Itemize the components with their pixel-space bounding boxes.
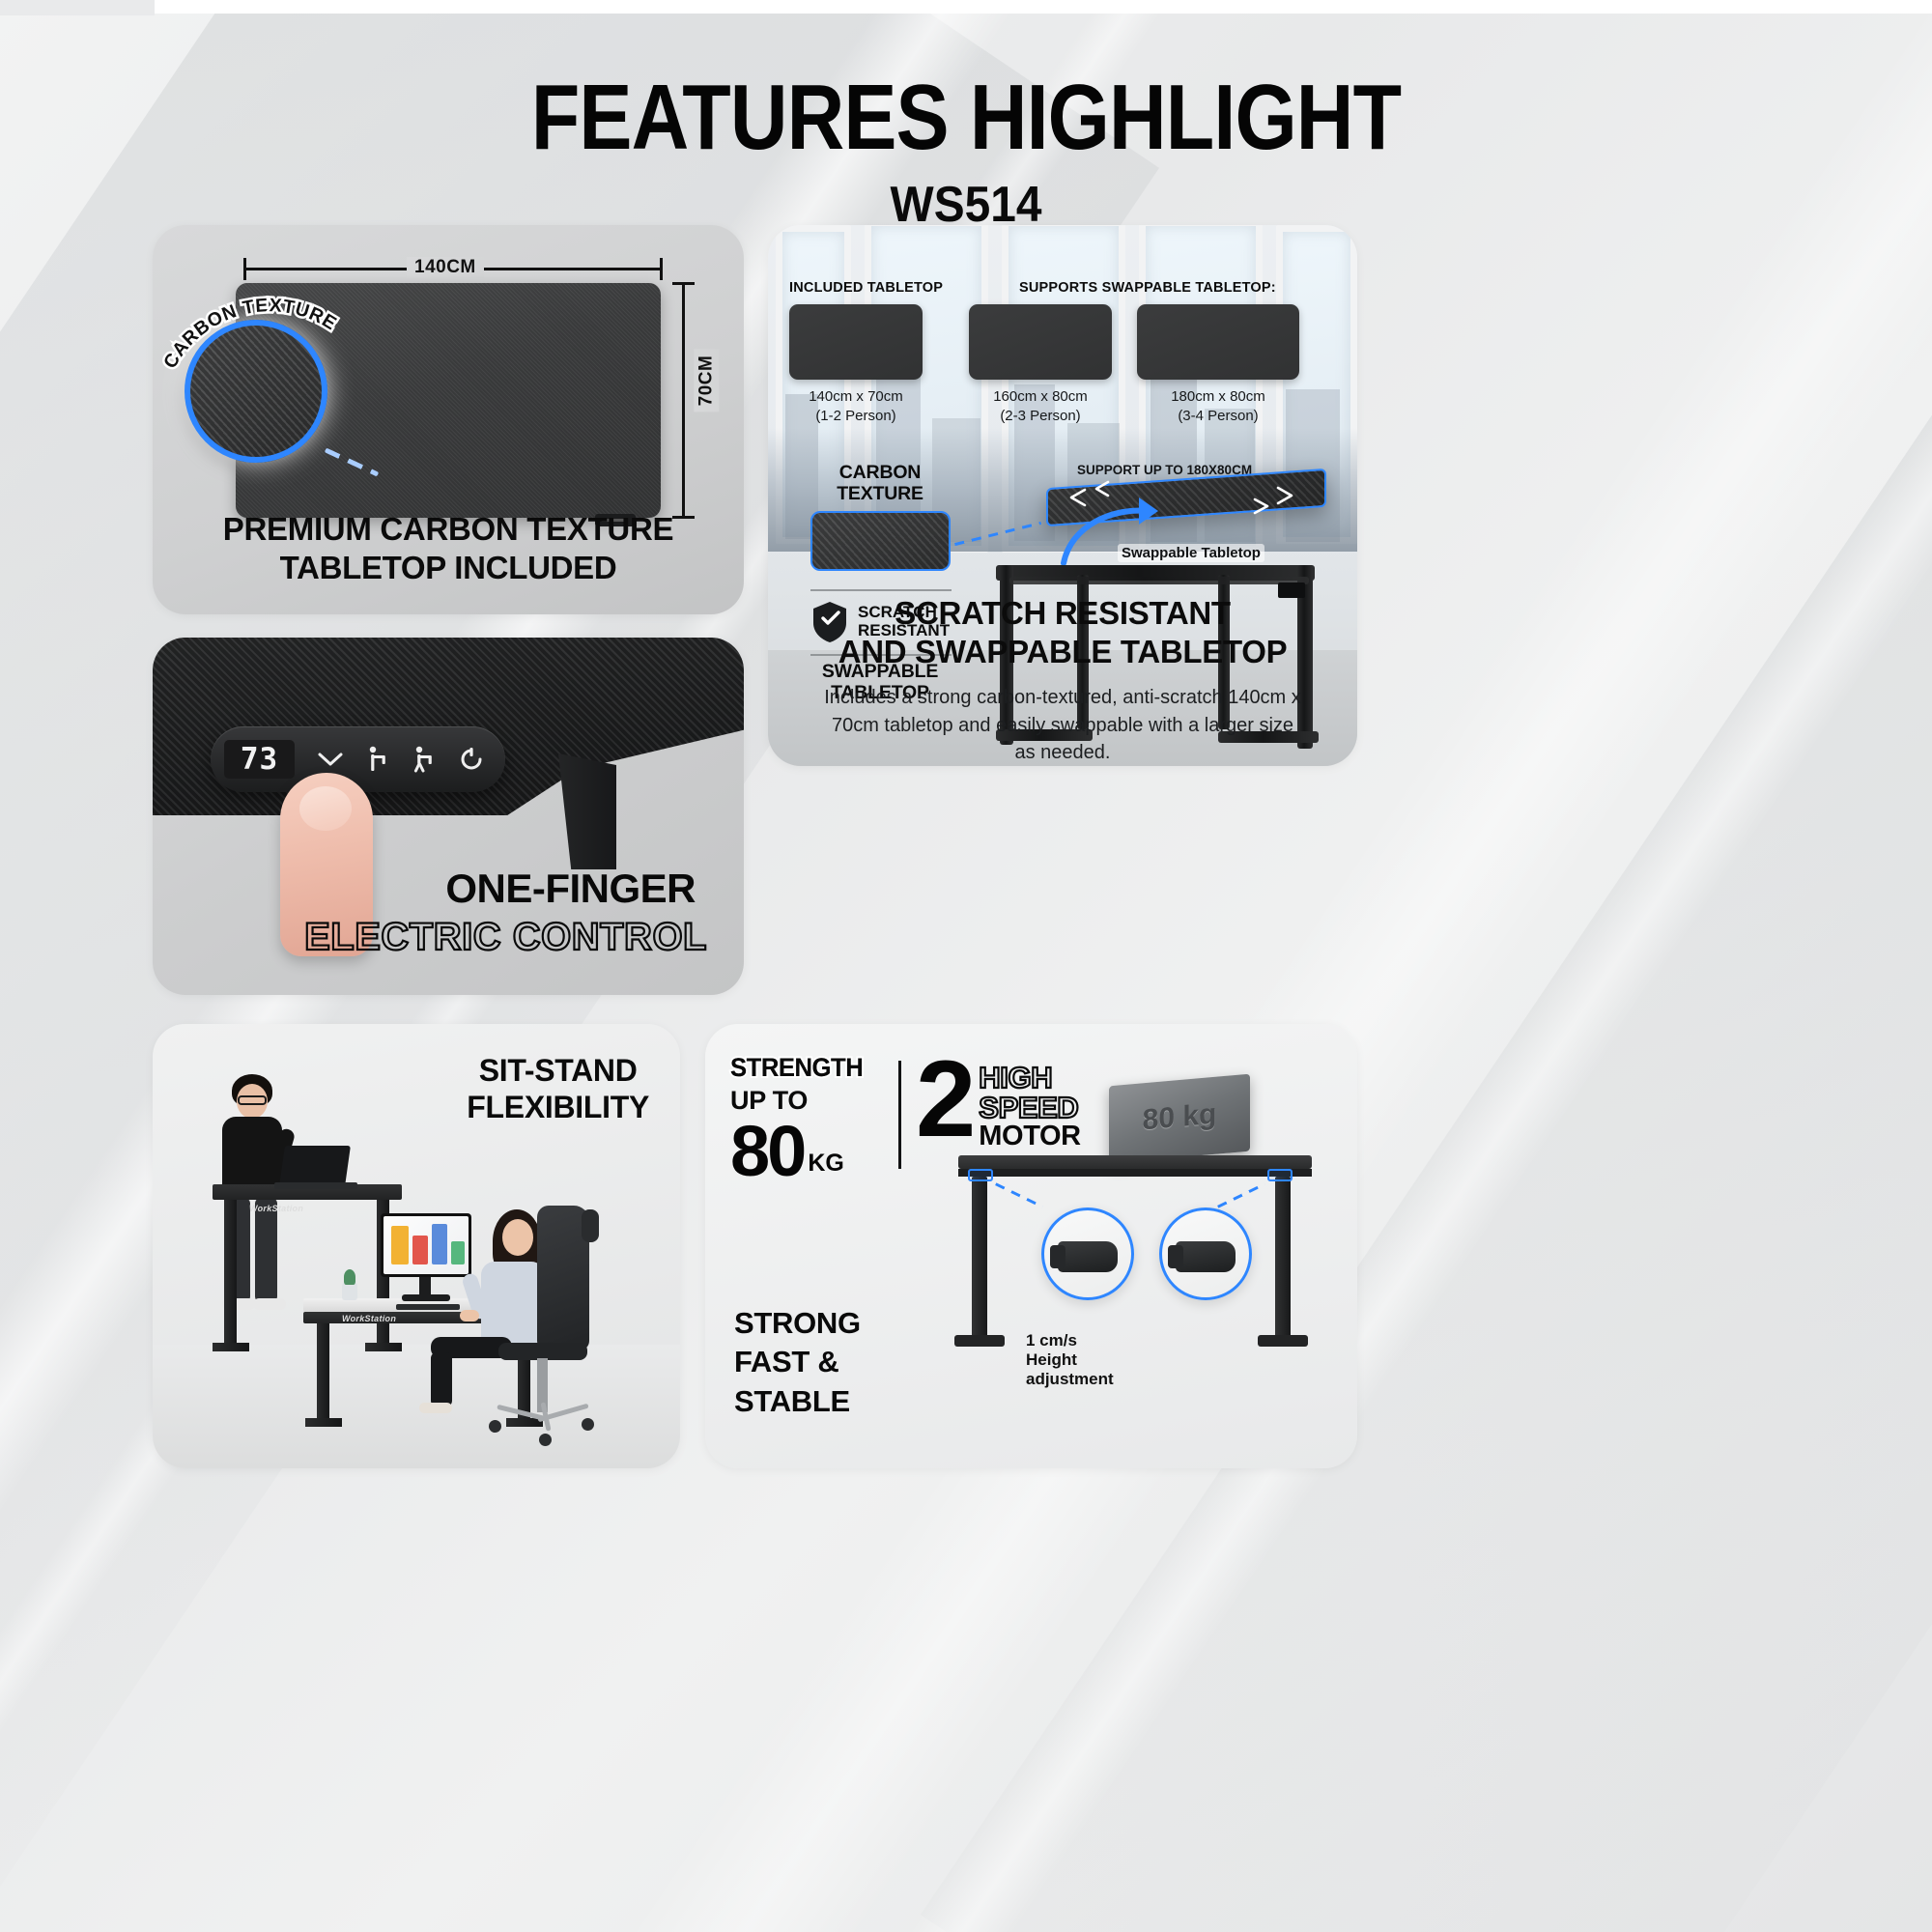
control-panel[interactable]: 73 [211,726,505,792]
leg-lower [431,1352,452,1406]
caption-line-1: ONE-FINGER [445,866,696,912]
page-title: FEATURES HIGHLIGHT [135,71,1797,164]
speed-note: 1 cm/s Height adjustment [1026,1331,1114,1389]
card-swappable-tabletop: INCLUDED TABLETOP SUPPORTS SWAPPABLE TAB… [768,225,1357,766]
torso [481,1262,545,1343]
height-dimension-line [682,283,685,518]
leg [255,1198,277,1302]
card-strength-motor: STRENGTH STRENGTH UP TO 80 KG 2 HIGH SPE… [705,1024,1357,1468]
caption-line-2: ELECTRIC CONTROL [304,916,707,959]
brand-logo: WorkStation [249,1204,303,1213]
desk-leg [1275,1177,1291,1339]
monitor-stand [419,1277,431,1296]
caption-line-1: SCRATCH RESISTANT [768,594,1357,633]
screen-block [412,1236,428,1264]
option-size: 180cm x 80cm [1135,387,1301,407]
width-dimension-label: 140CM [407,257,484,278]
height-dimension-cap-top [672,282,695,285]
desk-foot [365,1343,402,1351]
swappable-tabletop-caption: Swappable Tabletop [1118,544,1264,562]
chair-wheel [489,1420,501,1433]
capacity-unit: KG [808,1150,844,1178]
height-display: 73 [224,740,295,779]
monitor-screen [384,1216,469,1274]
plant-leaves [344,1269,355,1285]
tagline: STRONG FAST & STABLE [734,1304,861,1421]
chevron-down-icon[interactable] [316,751,345,768]
strength-block: STRENGTH STRENGTH UP TO 80 KG [730,1053,885,1185]
desk-foot [954,1335,1005,1347]
height-dimension-label: 70CM [694,350,719,412]
desk-cross-beam [1009,577,1309,584]
laptop-screen [279,1146,351,1186]
option-size: 140cm x 70cm [776,387,936,407]
card-premium-tabletop: 140CM 70CM CARBON TEXTURE PREMIUM CARBON… [153,225,744,614]
caption-line-2: FLEXIBILITY [467,1090,649,1126]
desk-foot [213,1343,249,1351]
motor-body [1176,1241,1236,1272]
head [502,1219,533,1256]
option-persons: (3-4 Person) [1135,407,1301,426]
badge-line-2: TEXTURE [807,484,953,505]
weight-label: 80 kg [1109,1095,1250,1141]
carbon-texture-magnifier [185,320,327,463]
desk-leg [224,1200,237,1345]
screen-block [451,1241,465,1264]
tabletop-option-caption-0: 140cm x 70cm (1-2 Person) [776,387,936,426]
desk-leg [972,1177,987,1339]
headrest [582,1209,599,1242]
motor-line-3: MOTOR [979,1122,1080,1151]
tabletop-option-0 [789,304,923,380]
brand-logo: WorkStation [342,1314,396,1323]
motor-highlight-left [968,1169,993,1181]
caption-line-2: AND SWAPPABLE TABLETOP [768,633,1357,671]
chair-wheel [582,1418,594,1431]
tagline-line-1: STRONG [734,1304,861,1343]
glasses-icon [238,1095,267,1105]
motor-block: 2 HIGH SPEED MOTOR [916,1053,1081,1151]
desk-foot [305,1418,342,1427]
card-one-finger-control: 73 [153,638,744,995]
width-dimension-cap-right [660,258,663,280]
carbon-texture-badge: CARBON TEXTURE [807,463,953,505]
keyboard [396,1304,460,1310]
tabletop-option-2 [1137,304,1299,380]
card-caption: PREMIUM CARBON TEXTURE TABLETOP INCLUDED [153,510,744,588]
desk-leg-graphic [558,753,616,869]
motor-line-2: SPEED [979,1093,1080,1122]
motor-highlight-right [1267,1169,1293,1181]
monitor [381,1213,471,1277]
weight-block: 80 kg [1109,1074,1250,1164]
desk-top [958,1155,1312,1169]
tagline-line-2: FAST & [734,1343,861,1381]
badge-divider [810,589,952,591]
option-persons: (1-2 Person) [776,407,936,426]
motor-body [1058,1241,1118,1272]
badge-line-1: CARBON [807,463,953,484]
monitor-base [402,1294,450,1301]
top-left-corner [0,0,155,15]
desk-leg [317,1323,329,1420]
fingernail [299,786,352,831]
tabletop-option-1 [969,304,1112,380]
option-size: 160cm x 80cm [957,387,1123,407]
screen-block [432,1224,447,1264]
shoe [253,1298,286,1310]
motor-cap [1050,1245,1065,1268]
width-dimension-cap-left [243,258,246,280]
tagline-line-3: STABLE [734,1382,861,1421]
carbon-texture-swatch [810,511,951,571]
supports-swappable-label: SUPPORTS SWAPPABLE TABLETOP: [1019,280,1276,296]
reset-icon[interactable] [459,747,484,772]
vertical-divider [898,1061,901,1169]
sit-position-icon[interactable] [366,746,391,773]
desk-plant [342,1283,357,1300]
height-value: 73 [241,742,278,777]
desk-apron [958,1169,1312,1177]
motor-count: 2 [916,1053,971,1145]
motor-callout-dash-right [1217,1182,1265,1207]
top-edge [0,0,1932,14]
motor-closeup-left [1041,1207,1134,1300]
capacity-value: 80 [730,1118,804,1185]
included-tabletop-label: INCLUDED TABLETOP [789,280,943,296]
infographic-canvas: FEATURES HIGHLIGHT WS514 140CM 70CM CARB… [0,0,1932,1932]
option-persons: (2-3 Person) [957,407,1123,426]
tabletop-option-caption-2: 180cm x 80cm (3-4 Person) [1135,387,1301,426]
card-sit-stand: SIT-STAND FLEXIBILITY WorkStation [153,1024,680,1468]
strength-label: STRENGTH [730,1053,863,1083]
caption-body: Includes a strong carbon-textured, anti-… [768,684,1357,766]
screen-block [391,1226,409,1264]
shoe [419,1403,452,1413]
desk-foot [1258,1335,1308,1347]
card-caption: SIT-STAND FLEXIBILITY [467,1053,649,1126]
caption-line-1: PREMIUM CARBON TEXTURE [153,510,744,549]
laptop-base [274,1182,357,1189]
stand-position-icon[interactable] [412,746,438,773]
hand [460,1310,479,1321]
tabletop-option-caption-1: 160cm x 80cm (2-3 Person) [957,387,1123,426]
studio-floor [153,1345,680,1468]
motor-closeup-right [1159,1207,1252,1300]
caption-line-1: SIT-STAND [467,1053,649,1090]
header: FEATURES HIGHLIGHT WS514 [0,71,1932,234]
chair-wheel [539,1434,552,1446]
motor-line-1: HIGH [979,1063,1080,1093]
motor-cap [1168,1245,1183,1268]
motor-callout-dash-left [995,1182,1043,1207]
card-caption: SCRATCH RESISTANT AND SWAPPABLE TABLETOP… [768,594,1357,766]
caption-line-2: TABLETOP INCLUDED [153,549,744,587]
